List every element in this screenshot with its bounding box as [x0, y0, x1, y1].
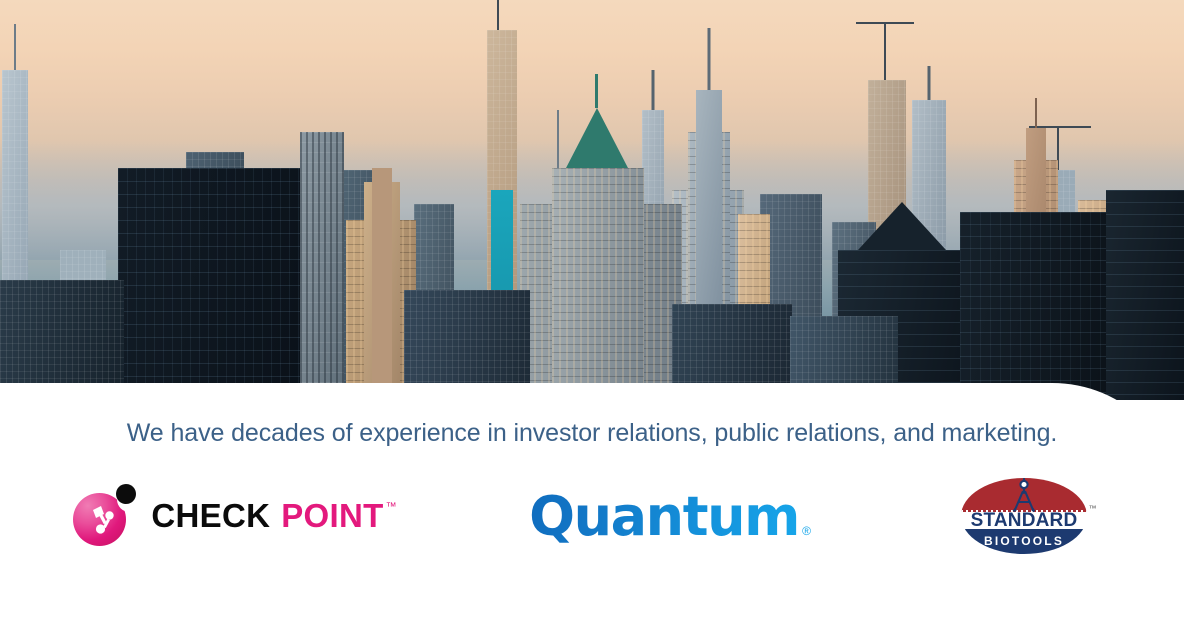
standard-biotools-word-one: STANDARD — [961, 511, 1087, 529]
building-copper-spire — [595, 74, 598, 108]
standard-biotools-badge: STANDARD BIOTOOLS — [961, 478, 1087, 554]
building-copper-roof-setback — [552, 168, 644, 400]
check-point-logo-icon — [73, 484, 137, 548]
quantum-wordmark: Quantum — [529, 485, 799, 548]
check-point-word-one: CHECK — [151, 497, 270, 535]
client-logo-row: CHECK POINT ™ Quantum ® — [0, 471, 1184, 561]
building-foreground-dark-slab — [118, 168, 306, 400]
check-point-trademark-icon: ™ — [386, 501, 397, 513]
tagline-text: We have decades of experience in investo… — [0, 419, 1184, 448]
hero-skyline-image — [0, 0, 1184, 400]
building-foreground-dark-far-right — [1106, 190, 1184, 400]
building-foreground-dark-right — [960, 212, 1110, 400]
quantum-registered-icon: ® — [802, 524, 811, 538]
content-panel: We have decades of experience in investo… — [0, 383, 1184, 639]
network-node-icon — [73, 484, 137, 548]
building-foreground-ribbed — [300, 132, 344, 400]
logo-quantum[interactable]: Quantum ® — [470, 485, 870, 548]
building-rooftop-block — [0, 280, 124, 400]
standard-biotools-word-two: BIOTOOLS — [961, 530, 1087, 552]
standard-biotools-trademark-icon: ™ — [1089, 504, 1098, 513]
building-artdeco-cap — [372, 168, 392, 400]
check-point-word-two: POINT — [281, 497, 383, 535]
logo-check-point[interactable]: CHECK POINT ™ — [0, 481, 470, 551]
marketing-banner: We have decades of experience in investo… — [0, 0, 1184, 639]
logo-standard-biotools[interactable]: STANDARD BIOTOOLS ™ — [870, 478, 1184, 554]
